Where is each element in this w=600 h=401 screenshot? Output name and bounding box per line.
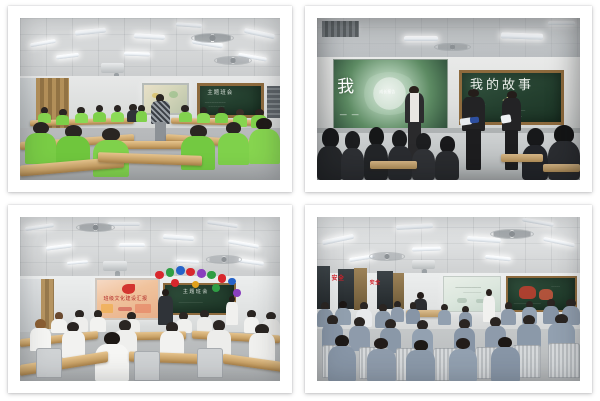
light-tube [548, 21, 574, 25]
presenter [158, 289, 174, 325]
balloon [166, 268, 175, 277]
slide-subtitle: 成长报告 [379, 89, 395, 95]
slide-graphic [457, 298, 467, 303]
photo-bottom-right[interactable]: 安全 安全 ———————— —————— ————————— ~~~~~ [317, 217, 580, 381]
ceiling-projector [101, 63, 124, 73]
audience-member [179, 105, 192, 121]
slide-graphic [118, 307, 131, 312]
ceiling-tile-grid [20, 18, 280, 83]
presenter-2 [462, 89, 486, 170]
chair [197, 348, 223, 378]
audience-member [341, 131, 365, 180]
balloon [197, 269, 206, 278]
blackboard-text: 主题班会 [207, 91, 233, 97]
audience-member [30, 319, 51, 352]
photo-frame-top-left[interactable]: 主题班会 ~~~~~~~~~ ~~~~~~~ [8, 6, 292, 192]
blackboard-text: 主题班会 [183, 290, 209, 295]
wall-sign: 安全 [331, 276, 344, 282]
photo-frame-bottom-left[interactable]: 班级文化建设汇报 主题班会 ———————— [8, 205, 292, 393]
chair [36, 348, 62, 378]
photo-frame-bottom-right[interactable]: 安全 安全 ———————— —————— ————————— ~~~~~ [305, 205, 592, 393]
slide-footer: — — [339, 111, 359, 119]
slide-title: 班级文化建设汇报 [103, 297, 147, 303]
audience-member [62, 322, 85, 358]
audience-member [136, 105, 148, 121]
light-tube [412, 246, 441, 251]
folder [469, 116, 479, 123]
projection-screen: 我 成长报告 — — [333, 59, 449, 130]
ceiling-fan [370, 253, 404, 260]
audience-member [317, 128, 343, 180]
ceiling-vent [322, 21, 359, 37]
light-tube [404, 36, 438, 42]
slide-text-line: ———————— [455, 286, 481, 290]
balloon [212, 284, 220, 292]
chair [134, 351, 160, 381]
balloon [228, 278, 236, 286]
photo-frame-top-right[interactable]: 我 成长报告 — — 我的故事 会 ——————— ~~~~~~~~~~ [305, 6, 592, 192]
ceiling-fan [207, 256, 241, 263]
light-tube [119, 243, 145, 247]
ceiling-fan [77, 224, 113, 231]
photo-bottom-left[interactable]: 班级文化建设汇报 主题班会 ———————— [20, 217, 280, 381]
audience-member-foreground [491, 337, 520, 381]
audience-member-foreground [367, 338, 396, 381]
audience-member [56, 109, 69, 125]
photo-collage: 主题班会 ~~~~~~~~~ ~~~~~~~ [0, 0, 600, 401]
audience-member-foreground [249, 118, 280, 163]
audience-member [412, 133, 436, 180]
balloon [155, 271, 163, 279]
desk [370, 161, 417, 169]
audience-member [90, 310, 106, 331]
wall-cabinet [267, 86, 280, 118]
balloon [171, 279, 179, 287]
wall-sign: 安全 [370, 281, 381, 286]
audience-member [388, 130, 412, 180]
desk [501, 154, 543, 162]
photo-top-left[interactable]: 主题班会 ~~~~~~~~~ ~~~~~~~ [20, 18, 280, 180]
balloon [207, 271, 215, 279]
audience-member [93, 105, 106, 121]
audience-member-foreground [449, 338, 478, 381]
slide-logo [122, 284, 135, 294]
balloon [218, 274, 226, 282]
paper-sheet [500, 114, 511, 123]
audience-member [111, 105, 124, 121]
audience-member [75, 107, 88, 123]
blackboard-drawing [519, 286, 536, 299]
light-tube [501, 32, 543, 39]
ceiling-projector [103, 261, 126, 271]
slide-text-line: —————— [463, 291, 481, 294]
audience-member-foreground [218, 122, 249, 166]
audience-member [364, 127, 388, 180]
desk [543, 164, 580, 172]
audience-member-foreground [328, 335, 357, 381]
audience-member [438, 304, 451, 325]
slide-title: 我 [337, 79, 354, 96]
audience-member [435, 136, 459, 180]
audience-member-foreground [406, 340, 435, 381]
audience-member [197, 107, 210, 123]
ceiling-projector [412, 260, 436, 270]
photo-top-right[interactable]: 我 成长报告 — — 我的故事 会 ——————— ~~~~~~~~~~ [317, 18, 580, 180]
balloon [186, 268, 194, 276]
audience-member-foreground [25, 122, 56, 164]
chair [548, 343, 580, 377]
